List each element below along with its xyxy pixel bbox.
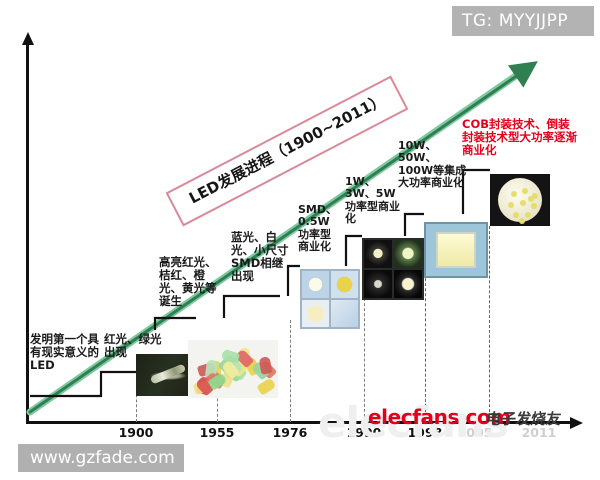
x-tick-1900: 1900 — [113, 425, 159, 440]
milestone-2008-label: 10W、50W、100W等集成大功率商业化 — [398, 140, 468, 189]
year-guide-1976 — [290, 320, 291, 422]
milestone-1990-label: 蓝光、白光、小尺寸SMD相继出现 — [231, 231, 291, 283]
smd-led-grid-photo — [300, 269, 360, 329]
year-guide-2005 — [489, 226, 490, 422]
elecfans-cn-watermark: 电子发烧友 — [485, 408, 563, 429]
site-watermark-badge: www.gzfade.com — [18, 444, 184, 472]
power-led-grid-photo — [362, 238, 424, 300]
led-timeline-chart: LED发展进程（1900~2011） 发明第一个具有现实意义的LED 红光、绿光… — [0, 0, 600, 480]
colored-lamp-led-photo — [188, 340, 278, 398]
x-tick-1976: 1976 — [267, 425, 313, 440]
milestone-2011-label: COB封装技术、倒装封装技术型大功率逐渐商业化 — [462, 118, 578, 157]
milestone-1900-label: 发明第一个具有现实意义的LED — [30, 333, 102, 372]
milestone-1998-label: SMD、0.5W功率型商业化 — [298, 204, 340, 253]
high-power-module-photo — [424, 222, 488, 278]
x-tick-1955: 1955 — [194, 425, 240, 440]
milestone-1976-label: 高亮红光、桔红、橙光、黄光等诞生 — [159, 256, 221, 308]
cob-module-photo — [490, 174, 550, 226]
tg-watermark-badge: TG: MYYJJPP — [452, 6, 594, 36]
milestone-2005-label: 1W、3W、5W功率型商业化 — [345, 176, 401, 225]
y-axis — [26, 44, 29, 424]
